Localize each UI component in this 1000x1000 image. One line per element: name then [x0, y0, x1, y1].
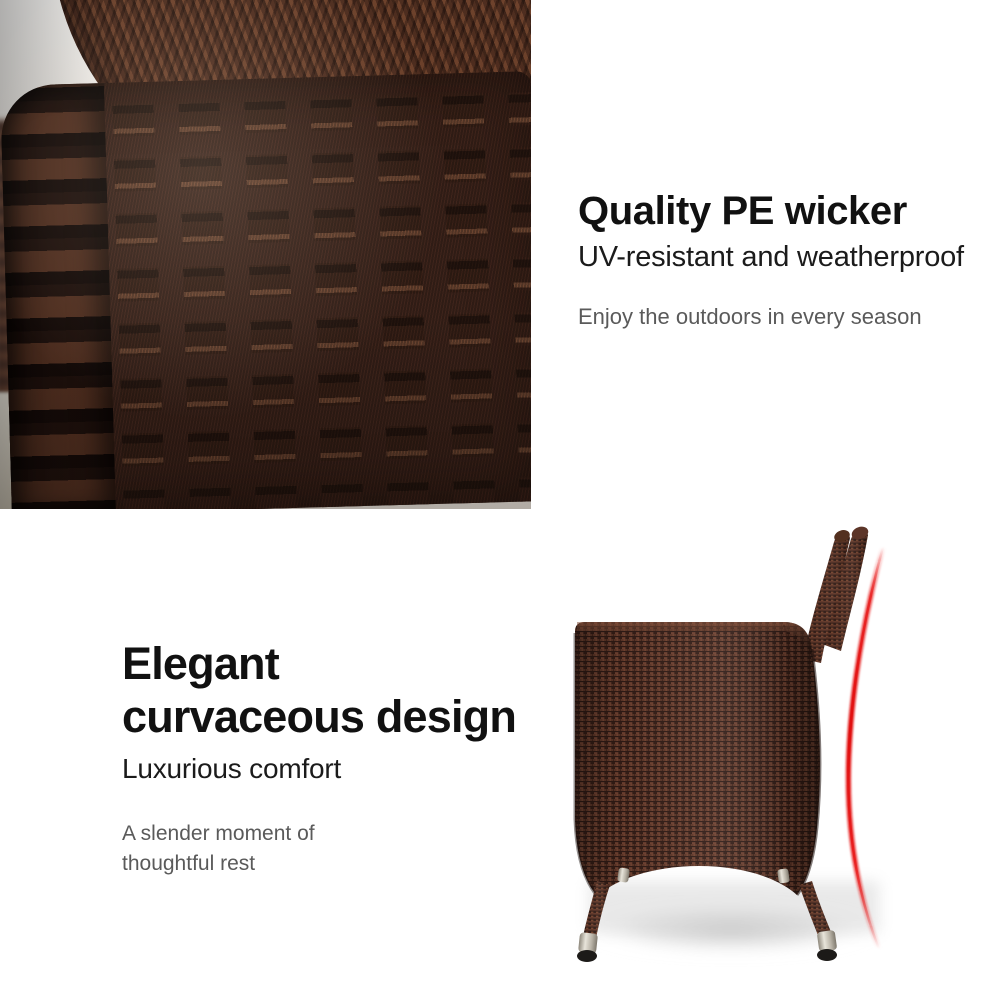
chair-profile-image [531, 509, 1000, 1000]
front-glide-stub [617, 867, 630, 882]
panel-quality-text: Quality PE wicker UV-resistant and weath… [531, 0, 1000, 509]
quality-text-block: Quality PE wicker UV-resistant and weath… [578, 190, 996, 332]
elegant-supporting-text: A slender moment of thoughtful rest [122, 819, 522, 879]
panel-chair-profile [531, 509, 1000, 1000]
panel-elegant-text: Elegant curvaceous design Luxurious comf… [0, 509, 531, 1000]
rounded-arm-corner [0, 83, 116, 509]
quality-headline: Quality PE wicker [578, 190, 996, 233]
product-feature-page: Quality PE wicker UV-resistant and weath… [0, 0, 1000, 1000]
rear-glide-stub [777, 868, 790, 883]
elegant-subheadline: Luxurious comfort [122, 752, 522, 786]
quality-supporting-text: Enjoy the outdoors in every season [578, 301, 996, 332]
chair-illustration [531, 509, 1000, 1000]
rear-leg-ferrule [817, 930, 838, 952]
elegant-text-block: Elegant curvaceous design Luxurious comf… [122, 637, 522, 878]
rear-leg-foot [817, 949, 837, 961]
panel-wicker-closeup [0, 0, 531, 509]
floor-shadow-slab [589, 881, 879, 933]
chair-body-shading [575, 622, 820, 896]
elegant-headline: Elegant curvaceous design [122, 637, 522, 743]
front-leg-foot [577, 950, 597, 962]
wicker-closeup-image [0, 0, 531, 509]
quality-subheadline: UV-resistant and weatherproof [578, 240, 996, 275]
